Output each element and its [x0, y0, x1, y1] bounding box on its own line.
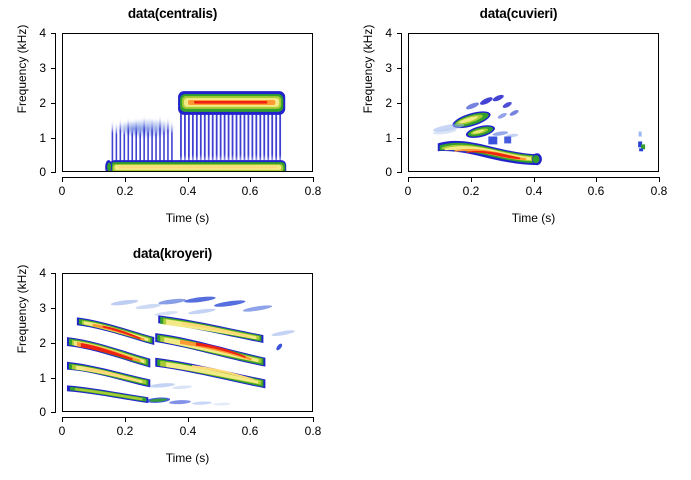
y-tick-2 — [51, 343, 56, 344]
x-label-0p2: 0.2 — [105, 184, 145, 198]
y-tick-3 — [51, 308, 56, 309]
x-tick-0p8 — [313, 177, 314, 182]
y-tick-2 — [51, 103, 56, 104]
x-label-0: 0 — [42, 424, 82, 438]
y-tick-3 — [51, 68, 56, 69]
y-tick-3 — [397, 68, 402, 69]
x-axis-title-centralis: Time (s) — [62, 211, 313, 225]
y-tick-1 — [51, 378, 56, 379]
x-label-0p6: 0.6 — [576, 184, 616, 198]
plot-box-centralis — [62, 33, 313, 172]
x-label-0p4: 0.4 — [514, 184, 554, 198]
x-tick-0p8 — [659, 177, 660, 182]
x-tick-0p6 — [250, 177, 251, 182]
x-tick-0 — [62, 177, 63, 182]
y-axis-title-cuvieri: Frequency (kHz) — [361, 9, 375, 129]
y-axis-title-kroyeri: Frequency (kHz) — [15, 249, 29, 369]
y-tick-4 — [397, 33, 402, 34]
y-label-1: 1 — [352, 131, 392, 145]
x-label-0p2: 0.2 — [451, 184, 491, 198]
spectrogram-kroyeri — [63, 274, 312, 411]
x-tick-0p2 — [125, 417, 126, 422]
x-tick-0p4 — [188, 417, 189, 422]
y-tick-0 — [51, 172, 56, 173]
panel-title-centralis: data(centralis) — [0, 6, 345, 21]
y-tick-2 — [397, 103, 402, 104]
panel-title-kroyeri: data(kroyeri) — [0, 246, 345, 261]
y-tick-4 — [51, 273, 56, 274]
x-label-0p6: 0.6 — [230, 424, 270, 438]
x-tick-0p4 — [188, 177, 189, 182]
x-tick-0 — [62, 417, 63, 422]
x-tick-0p2 — [125, 177, 126, 182]
y-label-1: 1 — [6, 371, 46, 385]
y-tick-1 — [397, 138, 402, 139]
x-label-0p4: 0.4 — [168, 184, 208, 198]
x-label-0p4: 0.4 — [168, 424, 208, 438]
spectrogram-centralis — [63, 34, 312, 171]
x-label-0p8: 0.8 — [293, 424, 333, 438]
x-label-0: 0 — [388, 184, 428, 198]
x-tick-0 — [408, 177, 409, 182]
x-label-0: 0 — [42, 184, 82, 198]
y-tick-1 — [51, 138, 56, 139]
y-tick-0 — [397, 172, 402, 173]
panel-kroyeri: data(kroyeri) — [0, 240, 345, 480]
y-axis-title-centralis: Frequency (kHz) — [15, 9, 29, 129]
x-axis-title-kroyeri: Time (s) — [62, 451, 313, 465]
y-label-0: 0 — [352, 165, 392, 179]
y-label-0: 0 — [6, 165, 46, 179]
x-tick-0p4 — [534, 177, 535, 182]
x-label-0p2: 0.2 — [105, 424, 145, 438]
x-tick-0p6 — [596, 177, 597, 182]
y-tick-4 — [51, 33, 56, 34]
panel-centralis: data(centralis) — [0, 0, 345, 240]
plot-box-cuvieri — [408, 33, 659, 172]
figure-canvas: data(centralis) — [0, 0, 691, 480]
spectrogram-cuvieri — [409, 34, 658, 171]
y-label-0: 0 — [6, 405, 46, 419]
y-tick-0 — [51, 412, 56, 413]
plot-box-kroyeri — [62, 273, 313, 412]
panel-cuvieri: data(cuvieri) — [346, 0, 691, 240]
x-axis-title-cuvieri: Time (s) — [408, 211, 659, 225]
x-label-0p6: 0.6 — [230, 184, 270, 198]
y-label-1: 1 — [6, 131, 46, 145]
x-tick-0p6 — [250, 417, 251, 422]
panel-title-cuvieri: data(cuvieri) — [346, 6, 691, 21]
x-tick-0p2 — [471, 177, 472, 182]
x-label-0p8: 0.8 — [293, 184, 333, 198]
x-label-0p8: 0.8 — [639, 184, 679, 198]
x-tick-0p8 — [313, 417, 314, 422]
